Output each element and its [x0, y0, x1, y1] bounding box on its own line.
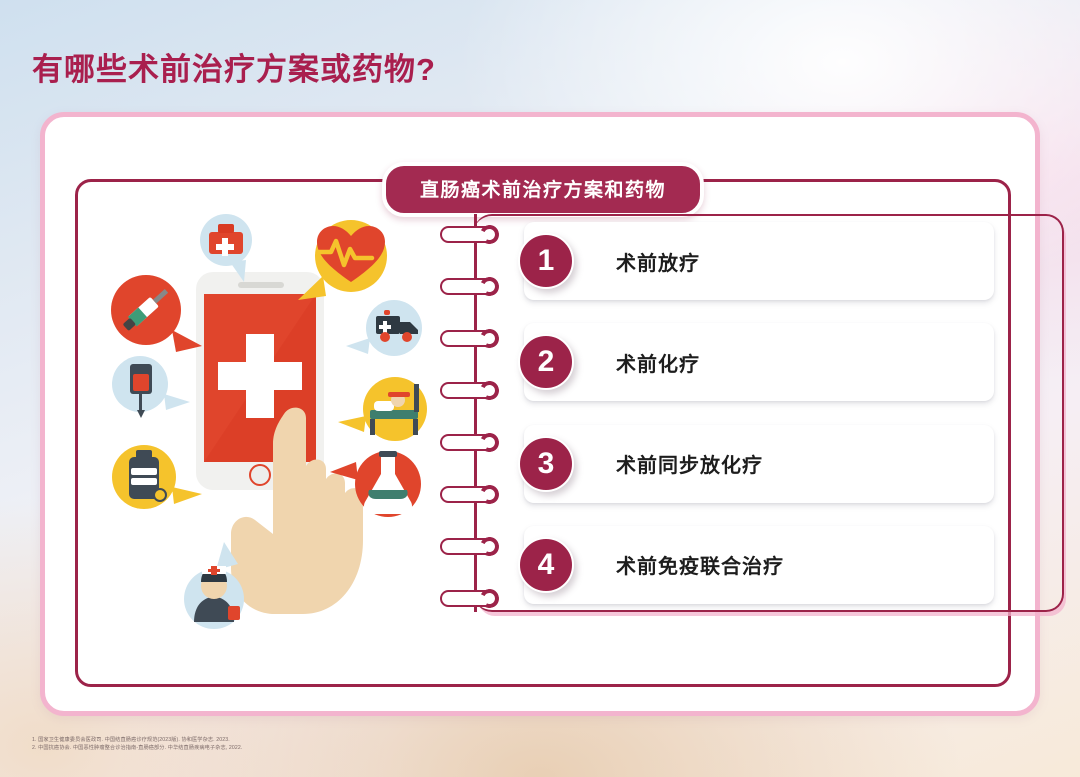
binder-ring: [440, 278, 506, 295]
bubble-heart-pulse: [298, 220, 387, 300]
binder-ring: [440, 434, 506, 451]
notebook-list: 1 术前放疗 2 术前化疗 3 术前同步放化疗 4 术前免疫联合治疗: [438, 190, 1004, 682]
list-item[interactable]: 1 术前放疗: [524, 222, 994, 300]
item-number-badge: 2: [518, 334, 574, 390]
treatment-option-list: 1 术前放疗 2 术前化疗 3 术前同步放化疗 4 术前免疫联合治疗: [524, 222, 994, 604]
binder-ring: [440, 486, 506, 503]
bubble-ambulance: [346, 300, 422, 356]
item-number-badge: 4: [518, 537, 574, 593]
footnotes: 1. 国家卫生健康委员会医政司. 中国结直肠癌诊疗规范(2023版). 协和医学…: [32, 736, 452, 753]
binder-rings: [438, 226, 514, 606]
item-number-badge: 3: [518, 436, 574, 492]
slide-canvas: 有哪些术前治疗方案或药物? 直肠癌术前治疗方案和药物: [0, 0, 1080, 777]
binder-ring: [440, 382, 506, 399]
page-title: 有哪些术前治疗方案或药物?: [32, 44, 436, 89]
bubble-medicine-bottle: [112, 445, 202, 509]
list-item[interactable]: 2 术前化疗: [524, 323, 994, 401]
item-label: 术前同步放化疗: [616, 449, 763, 478]
item-label: 术前免疫联合治疗: [616, 550, 784, 579]
footnote-line: 1. 国家卫生健康委员会医政司. 中国结直肠癌诊疗规范(2023版). 协和医学…: [32, 736, 452, 744]
bubble-iv-blood-bag: [112, 356, 190, 418]
item-label: 术前放疗: [616, 247, 700, 276]
list-item[interactable]: 3 术前同步放化疗: [524, 425, 994, 503]
bubble-first-aid-kit: [200, 214, 252, 282]
bubble-syringe: [111, 275, 202, 352]
binder-ring: [440, 330, 506, 347]
bubble-hospital-bed: [338, 377, 427, 441]
binder-ring: [440, 538, 506, 555]
binder-ring: [440, 590, 506, 607]
list-item[interactable]: 4 术前免疫联合治疗: [524, 526, 994, 604]
mobile-health-illustration: [98, 204, 438, 669]
binder-ring: [440, 226, 506, 243]
item-number-badge: 1: [518, 233, 574, 289]
item-label: 术前化疗: [616, 348, 700, 377]
notebook-panel: 直肠癌术前治疗方案和药物: [75, 179, 1011, 687]
footnote-line: 2. 中国抗癌协会. 中国恶性肿瘤整合诊治指南-直肠癌部分. 中华结直肠疾病电子…: [32, 744, 452, 752]
content-card: 直肠癌术前治疗方案和药物: [40, 112, 1040, 716]
